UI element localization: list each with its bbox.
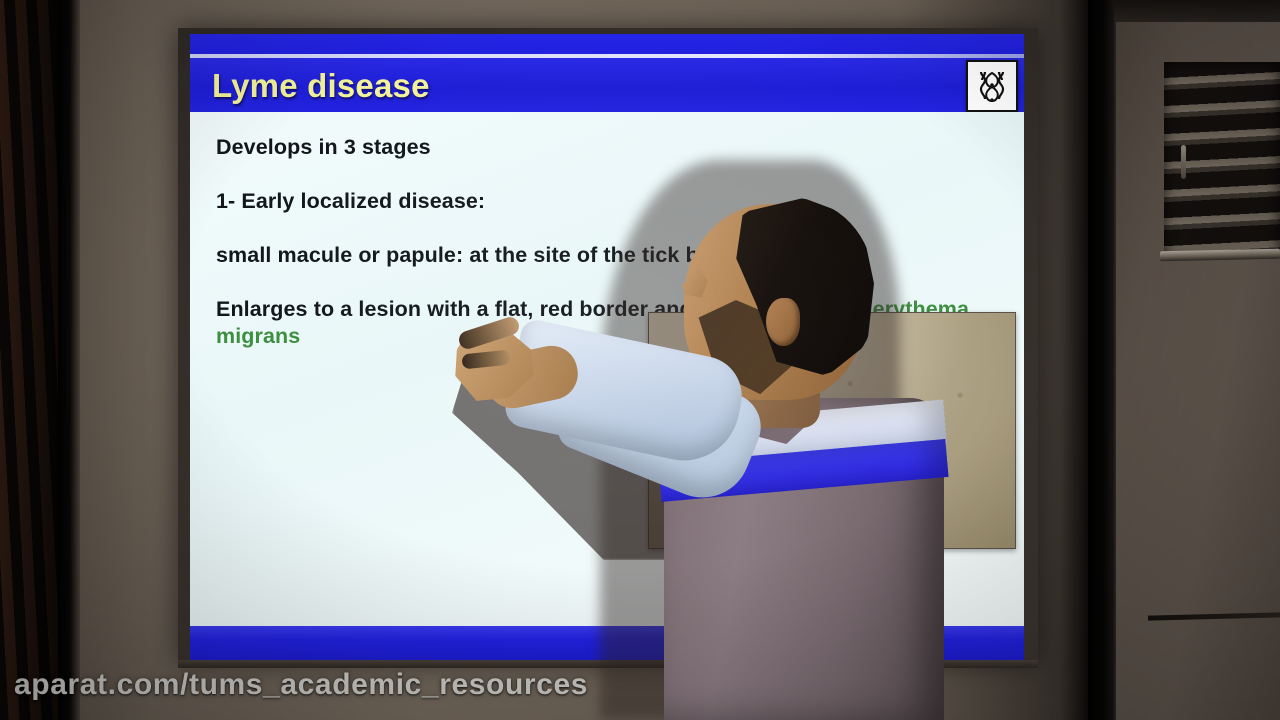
slide-title-bar: Lyme disease xyxy=(190,58,1024,112)
slide-line-3: small macule or papule: at the site of t… xyxy=(216,242,998,269)
slide-line-2: 1- Early localized disease: xyxy=(216,188,998,215)
presentation-slide: Lyme disease Develops in 3 stages 1- Ear… xyxy=(190,34,1024,660)
ornament-logo-icon xyxy=(966,60,1018,112)
watermark-text: aparat.com/tums_academic_resources xyxy=(14,668,588,702)
photo-shading xyxy=(649,313,1015,548)
slide-bottom-accent-bar xyxy=(190,626,1024,660)
wall-gap xyxy=(1088,0,1114,720)
air-conditioner-handle xyxy=(1181,145,1186,179)
screenshot-frame: Lyme disease Develops in 3 stages 1- Ear… xyxy=(0,0,1280,720)
clinical-skin-lesion-photo xyxy=(648,312,1016,549)
slide-title: Lyme disease xyxy=(212,69,430,102)
projection-screen-bottom-edge xyxy=(178,660,1038,668)
slide-line-1: Develops in 3 stages xyxy=(216,134,998,161)
wall-edge xyxy=(58,0,80,720)
slide-top-accent-bar xyxy=(190,34,1024,54)
